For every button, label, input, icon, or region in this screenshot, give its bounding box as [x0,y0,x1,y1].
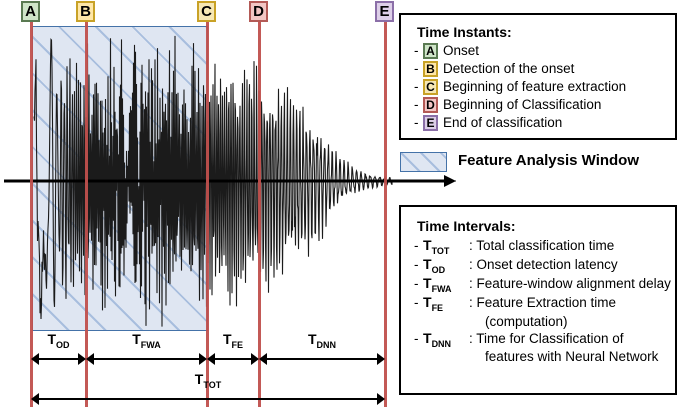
instant-legend-row-C: -CBeginning of feature extraction [414,79,675,95]
time-instants-title: Time Instants: [417,24,675,40]
marker-label-B: B [76,1,95,22]
instant-key-A: A [423,43,438,59]
marker-label-E: E [375,1,394,22]
interval-legend-row-OD: -TOD: Onset detection latency [414,257,675,275]
interval-symbol-DNN: TDNN [423,331,469,349]
interval-desc-FE: : Feature Extraction time [469,295,616,310]
interval-symbol-FE: TFE [423,295,469,313]
instant-legend-row-A: -AOnset [414,43,675,59]
interval-label-T_FWA: TFWA [86,331,207,350]
interval-legend-row-DNN: -TDNN: Time for Classification of [414,331,675,349]
feature-window-legend-label: Feature Analysis Window [458,152,639,169]
interval-arrow-T_FE [207,352,259,366]
interval-desc-FWA: : Feature-window alignment delay [469,276,671,291]
list-dash: - [414,276,423,291]
instant-key-B: B [423,61,438,77]
interval-arrow-T_OD [31,352,86,366]
interval-desc-TOT: : Total classification time [469,238,614,253]
instant-desc-E: End of classification [443,115,562,130]
interval-symbol-OD: TOD [423,257,469,275]
marker-label-C: C [197,1,216,22]
list-dash: - [414,43,423,58]
marker-label-D: D [249,1,268,22]
interval-desc-cont-FE: (computation) [414,314,675,329]
interval-legend-row-FE: -TFE: Feature Extraction time [414,295,675,313]
list-dash: - [414,238,423,253]
list-dash: - [414,115,423,130]
interval-desc-DNN: : Time for Classification of [469,331,624,346]
instant-desc-D: Beginning of Classification [443,97,601,112]
feature-window-swatch [400,152,447,172]
interval-label-T_OD: TOD [31,331,86,350]
interval-arrow-T_TOT [31,392,385,406]
list-dash: - [414,331,423,346]
interval-label-T_DNN: TDNN [259,331,385,350]
interval-symbol-FWA: TFWA [423,276,469,294]
interval-arrow-T_FWA [86,352,207,366]
time-intervals-title: Time Intervals: [417,218,675,234]
interval-label-T_FE: TFE [207,331,259,350]
time-instants-legend: Time Instants: -AOnset-BDetection of the… [399,13,677,140]
instant-legend-row-B: -BDetection of the onset [414,61,675,77]
interval-desc-OD: : Onset detection latency [469,257,618,272]
instant-desc-B: Detection of the onset [443,61,574,76]
interval-legend-row-FWA: -TFWA: Feature-window alignment delay [414,276,675,294]
instant-key-E: E [423,115,438,131]
list-dash: - [414,97,423,112]
instant-legend-row-D: -DBeginning of Classification [414,97,675,113]
instant-desc-C: Beginning of feature extraction [443,79,626,94]
marker-label-A: A [21,1,40,22]
instant-desc-A: Onset [443,43,479,58]
list-dash: - [414,79,423,94]
interval-symbol-TOT: TTOT [423,238,469,256]
interval-label-T_TOT: TTOT [31,371,385,390]
time-intervals-legend: Time Intervals: -TTOT: Total classificat… [399,205,677,395]
interval-arrow-T_DNN [259,352,385,366]
diagram-canvas: ABCDE TODTFWATFETDNNTTOT Time Instants: … [0,0,685,407]
instant-legend-row-E: -EEnd of classification [414,115,675,131]
list-dash: - [414,257,423,272]
interval-legend-row-TOT: -TTOT: Total classification time [414,238,675,256]
interval-desc-cont-DNN: features with Neural Network [414,349,675,364]
list-dash: - [414,61,423,76]
instant-key-D: D [423,97,438,113]
list-dash: - [414,295,423,310]
instant-key-C: C [423,79,438,95]
